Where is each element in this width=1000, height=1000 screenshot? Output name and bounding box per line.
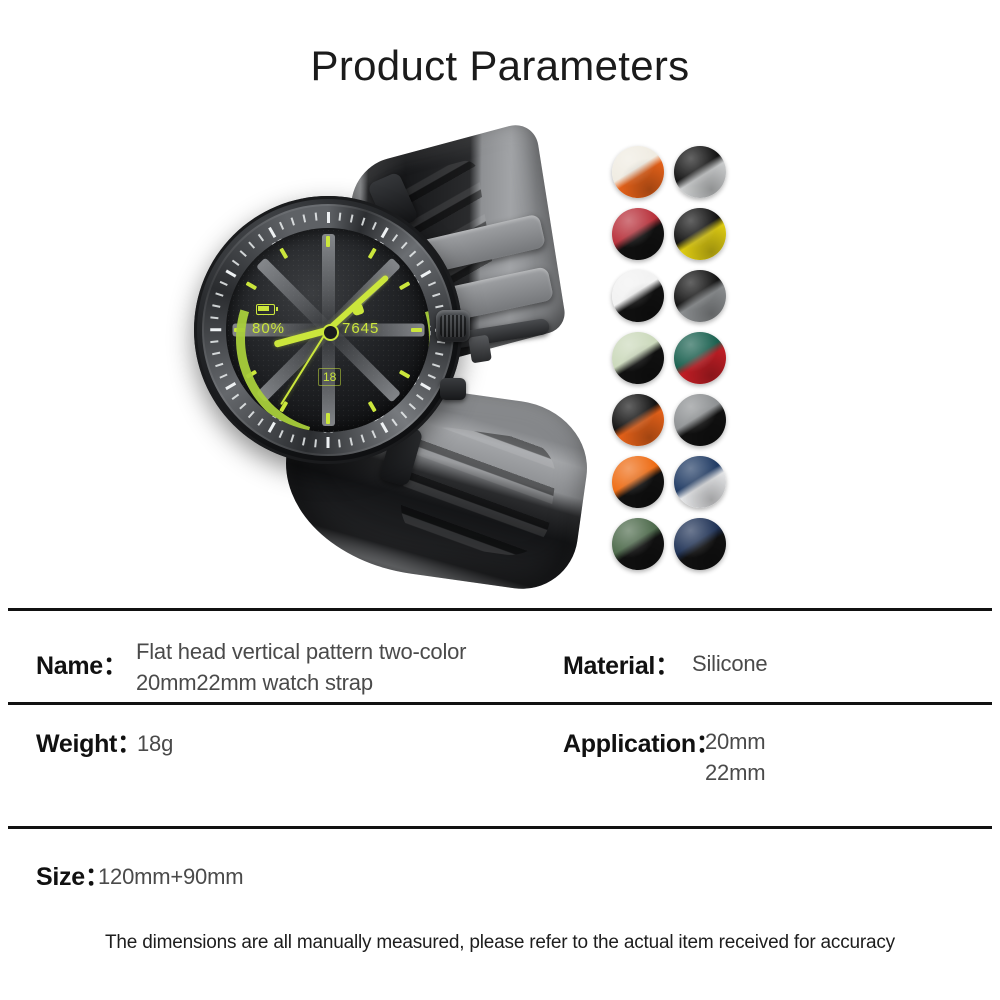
spec-value-weight: 18g (137, 728, 173, 759)
battery-icon (256, 304, 275, 315)
bezel-tick (216, 363, 224, 367)
color-swatch-navy-white[interactable] (674, 456, 726, 508)
color-swatch-red-black[interactable] (612, 208, 664, 260)
bezel-tick (291, 218, 295, 226)
color-swatch-orange-black-2[interactable] (612, 456, 664, 508)
bezel-tick (361, 218, 365, 226)
bezel-tick (303, 214, 306, 222)
steps-count-label: 7645 (342, 320, 379, 337)
battery-percent-label: 80% (252, 320, 285, 337)
bezel-tick (350, 214, 353, 222)
watch-crown (436, 310, 470, 342)
spec-label-application: Application： (563, 724, 721, 760)
spec-value-application-line2: 22mm (705, 757, 765, 788)
spec-label-material: Material： (563, 646, 680, 682)
bezel-tick (291, 434, 295, 442)
swatch-sheen (674, 456, 726, 508)
bezel-tick (211, 329, 222, 332)
bezel-tick (315, 439, 317, 447)
color-swatch-mint-black[interactable] (612, 332, 664, 384)
swatch-sheen (612, 208, 664, 260)
swatch-sheen (674, 146, 726, 198)
table-divider (8, 702, 992, 705)
bezel-tick (315, 213, 317, 221)
spec-value-material: Silicone (692, 648, 767, 679)
bezel-tick (212, 305, 220, 308)
product-image-area: 0510152025303555 80% 7645 18 (0, 130, 1000, 590)
color-swatch-orange-white[interactable] (612, 146, 664, 198)
swatch-sheen (674, 332, 726, 384)
bezel-tick (435, 305, 443, 308)
bezel-tick (339, 439, 341, 447)
hands-hub (322, 324, 339, 341)
swatch-sheen (612, 518, 664, 570)
swatch-sheen (612, 456, 664, 508)
bezel-tick (432, 293, 440, 297)
color-swatch-navy-black[interactable] (674, 518, 726, 570)
spec-value-application: 20mm 22mm (705, 726, 765, 788)
swatch-sheen (674, 518, 726, 570)
swatch-sheen (612, 270, 664, 322)
color-swatch-army-black[interactable] (612, 518, 664, 570)
strap-buckle-tongue (468, 335, 492, 364)
bezel-tick (339, 213, 341, 221)
table-divider (8, 826, 992, 829)
bezel-tick (361, 434, 365, 442)
color-swatch-white-black[interactable] (674, 146, 726, 198)
bezel-tick (303, 437, 306, 445)
color-swatch-grey-black[interactable] (674, 270, 726, 322)
page-title: Product Parameters (0, 42, 1000, 90)
swatch-sheen (612, 394, 664, 446)
color-swatch-grey-black-2[interactable] (674, 394, 726, 446)
watch-dial: 80% 7645 18 (226, 228, 430, 432)
bezel-tick (435, 352, 443, 355)
spec-value-application-line1: 20mm (705, 726, 765, 757)
spec-label-weight: Weight： (36, 724, 142, 760)
bezel-tick (350, 437, 353, 445)
bezel-tick (432, 363, 440, 367)
smartwatch-illustration: 0510152025303555 80% 7645 18 (180, 140, 600, 580)
spec-value-size: 120mm+90mm (98, 861, 243, 892)
date-label: 18 (318, 368, 341, 386)
bezel-tick (212, 352, 220, 355)
swatch-sheen (612, 146, 664, 198)
color-swatch-grid (612, 146, 742, 566)
swatch-sheen (674, 208, 726, 260)
swatch-sheen (674, 394, 726, 446)
table-divider (8, 608, 992, 611)
bezel-tick (211, 317, 219, 319)
color-swatch-green-red[interactable] (674, 332, 726, 384)
bezel-tick (327, 212, 330, 223)
bezel-tick (216, 293, 224, 297)
color-swatch-yellow-black[interactable] (674, 208, 726, 260)
bezel-tick (211, 341, 219, 343)
swatch-sheen (674, 270, 726, 322)
swatch-sheen (612, 332, 664, 384)
bezel-tick (327, 437, 330, 448)
measurement-disclaimer: The dimensions are all manually measured… (0, 932, 1000, 954)
spec-label-name: Name： (36, 646, 128, 682)
color-swatch-orange-black[interactable] (612, 394, 664, 446)
color-swatch-white-black-2[interactable] (612, 270, 664, 322)
spec-value-name: Flat head vertical pattern two-color 20m… (136, 636, 536, 698)
watch-side-button (440, 378, 466, 400)
watch-case: 0510152025303555 80% 7645 18 (194, 196, 462, 464)
